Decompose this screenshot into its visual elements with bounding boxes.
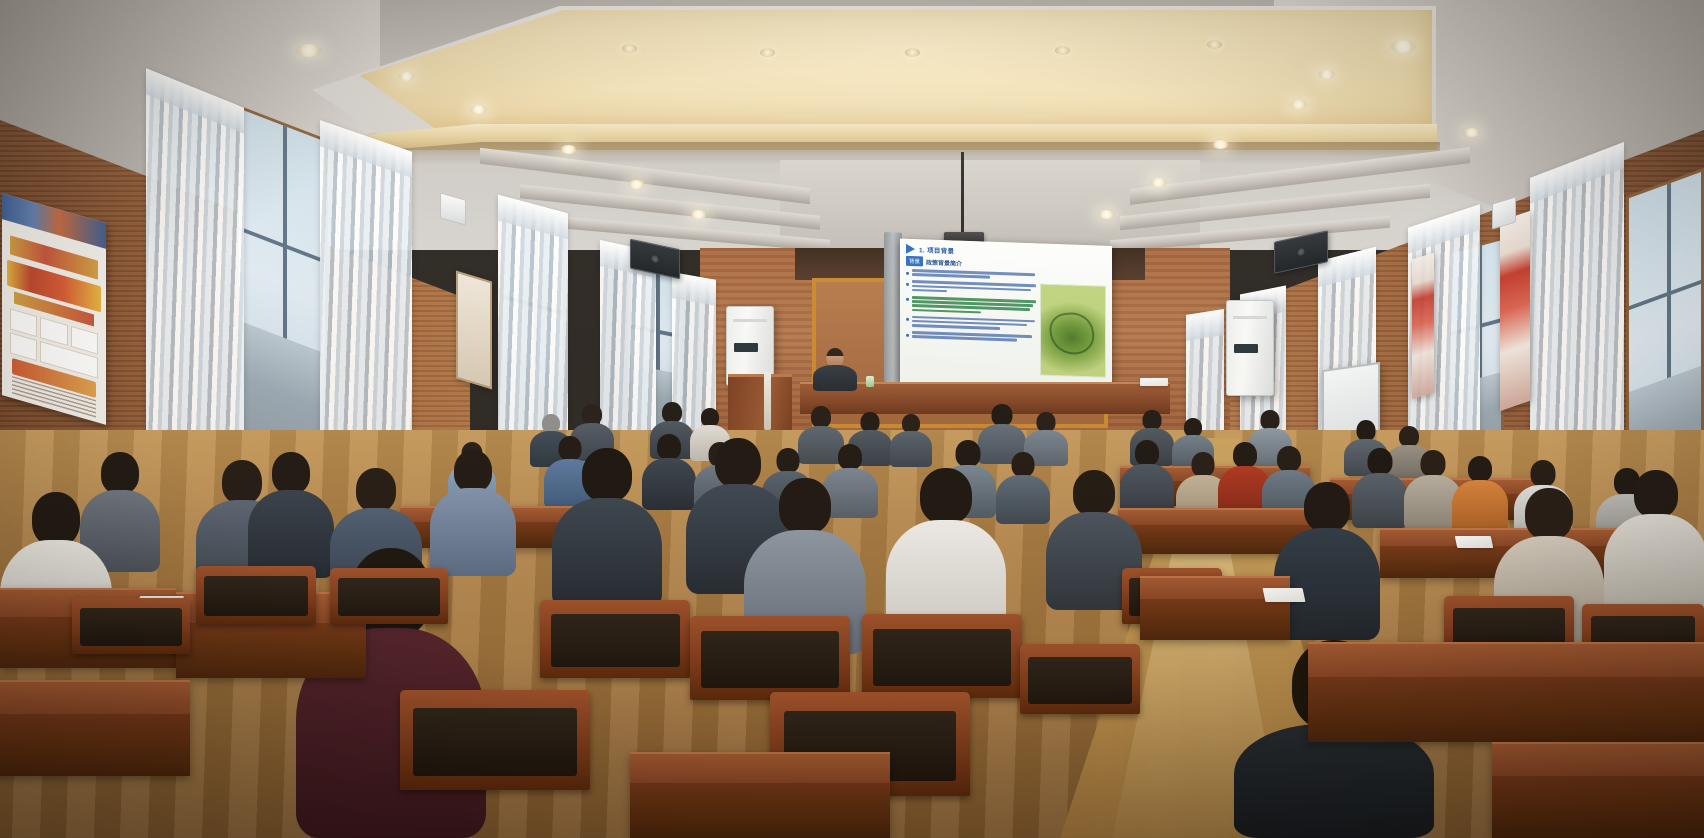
attendee-head [811, 406, 831, 428]
framed-certificate: framed certificate [456, 270, 492, 389]
projector-mount-pole [961, 152, 964, 234]
downlight-icon [1150, 178, 1167, 187]
bullet-dot-icon [906, 318, 909, 321]
downlight-icon [690, 210, 707, 219]
downlight-icon [1318, 70, 1335, 79]
attendee-head [838, 444, 862, 470]
bullet-dot-icon [906, 298, 909, 301]
right-wall-banner: red vertical banner [1500, 211, 1530, 411]
attendee-head [32, 492, 80, 546]
attendee-body [890, 431, 932, 467]
attendee [890, 414, 932, 466]
ac-display-panel [734, 343, 758, 352]
document-on-desk [1455, 536, 1494, 548]
desk [0, 680, 190, 776]
attendee-head [956, 440, 981, 467]
attendee-head [101, 452, 139, 494]
cup-label: tea cup [866, 376, 867, 377]
chair [690, 616, 850, 700]
slide-header-text: 1. 项目背景 [919, 244, 954, 255]
projector-label: ceiling projector [944, 232, 945, 233]
bullet-text [912, 316, 1037, 333]
attendee-head [1261, 410, 1280, 430]
attendee-head [1357, 420, 1376, 441]
downlight-icon [1212, 140, 1229, 149]
attendee-head [920, 468, 972, 524]
slide-section-tag: 背景 [906, 256, 923, 267]
downlight-icon [628, 180, 645, 189]
downlight-icon [1390, 40, 1416, 53]
slide-bullet [906, 315, 1037, 332]
desk [1140, 576, 1290, 640]
bullet-text [912, 280, 1037, 297]
coffer-light-icon [1055, 46, 1070, 55]
downlight-icon [470, 105, 487, 114]
attendee-head [1012, 452, 1035, 477]
ac-vent [733, 319, 767, 322]
conference-room-photo: recessed coffer [0, 0, 1704, 838]
chair [540, 600, 690, 678]
attendee-head [662, 402, 682, 423]
attendee-head [582, 404, 602, 425]
chair [72, 598, 190, 654]
attendee-head [1073, 470, 1115, 516]
air-conditioner-right [1226, 300, 1274, 396]
bullet-text [912, 331, 1037, 344]
lectern-label: wooden lectern [728, 377, 729, 378]
slide-bullet-list [906, 269, 1037, 376]
bullet-text [912, 269, 1037, 282]
coffer-light-icon [622, 44, 637, 53]
chair [330, 568, 448, 624]
screen-surface: 1. 项目背景 背景 政策背景简介 [900, 239, 1112, 394]
presentation-slide: 1. 项目背景 背景 政策背景简介 [900, 239, 1112, 394]
slide-photo-caption: 绿色生态景观图 [1041, 285, 1042, 286]
lectern-banner-pole [764, 372, 771, 430]
right-wall-banner-2 [1412, 253, 1434, 399]
desk [1308, 642, 1704, 742]
bullet-text [912, 296, 1037, 317]
attendee-head [1531, 460, 1556, 487]
slide-bullet [906, 296, 1037, 317]
downlight-icon [1463, 128, 1480, 137]
coffer-light-icon [905, 48, 920, 57]
slide-bullet [906, 331, 1037, 344]
slide-body: 绿色生态景观图 [906, 269, 1106, 378]
attendee [552, 448, 662, 608]
chair [862, 614, 1022, 698]
projection-screen: 1. 项目背景 背景 政策背景简介 [884, 232, 1112, 402]
attendee-head [1399, 426, 1419, 447]
desk [630, 752, 890, 838]
attendee-head [779, 478, 831, 534]
coffer-light-icon [760, 48, 775, 57]
attendee-head [1368, 448, 1393, 475]
attendee-head [1277, 446, 1301, 472]
attendee-head [1233, 442, 1257, 468]
left-wall-poster: promotional poster [2, 193, 106, 425]
attendee-head [272, 452, 310, 494]
slide-photo: 绿色生态景观图 [1040, 283, 1106, 377]
poster-cell [10, 332, 37, 360]
chair [196, 566, 316, 624]
head-table-label: head table [800, 384, 801, 385]
attendee-body [552, 498, 662, 608]
bullet-dot-icon [906, 283, 909, 286]
attendee-head [1037, 412, 1056, 432]
attendee-head [582, 448, 632, 502]
head-table-papers [1140, 378, 1168, 386]
downlight-icon [560, 145, 577, 154]
ceiling-coffer-inner: recessed coffer [360, 10, 1432, 136]
slide-bullet [906, 269, 1037, 282]
ac-vent [1233, 316, 1267, 319]
document-on-desk [1263, 588, 1306, 602]
attendee-head [861, 412, 880, 432]
attendee-head [1135, 440, 1159, 466]
desk [1492, 742, 1704, 838]
certificate-name: framed certificate [458, 273, 459, 274]
attendee-head [1634, 470, 1678, 518]
attendee-head [1525, 488, 1573, 540]
downlight-icon [398, 72, 415, 81]
presenter-body [813, 365, 857, 391]
slide-section-title: 政策背景简介 [926, 257, 962, 267]
attendee-head [1304, 482, 1350, 532]
presenter [812, 348, 858, 390]
attendee-head [356, 468, 396, 512]
ac-display-panel [1234, 344, 1258, 353]
attendee [1604, 470, 1704, 622]
whiteboard-label: flip chart board [1324, 372, 1325, 373]
slide-arrow-icon [906, 244, 915, 254]
chair [1020, 644, 1140, 714]
attendee-head [1468, 456, 1492, 482]
attendee-head [454, 450, 492, 492]
attendee-head [1143, 410, 1162, 430]
slide-bullet [906, 280, 1037, 297]
tea-cup: tea cup [866, 376, 874, 387]
attendee-head [1421, 450, 1446, 477]
downlight-icon [296, 44, 322, 57]
downlight-icon [1290, 100, 1307, 109]
bullet-dot-icon [906, 271, 909, 274]
downlight-icon [1098, 210, 1115, 219]
chair [400, 690, 590, 790]
bullet-dot-icon [906, 334, 909, 337]
coffer-light-icon [1207, 40, 1222, 49]
attendee-head [1192, 452, 1215, 477]
attendee-head [992, 404, 1013, 426]
